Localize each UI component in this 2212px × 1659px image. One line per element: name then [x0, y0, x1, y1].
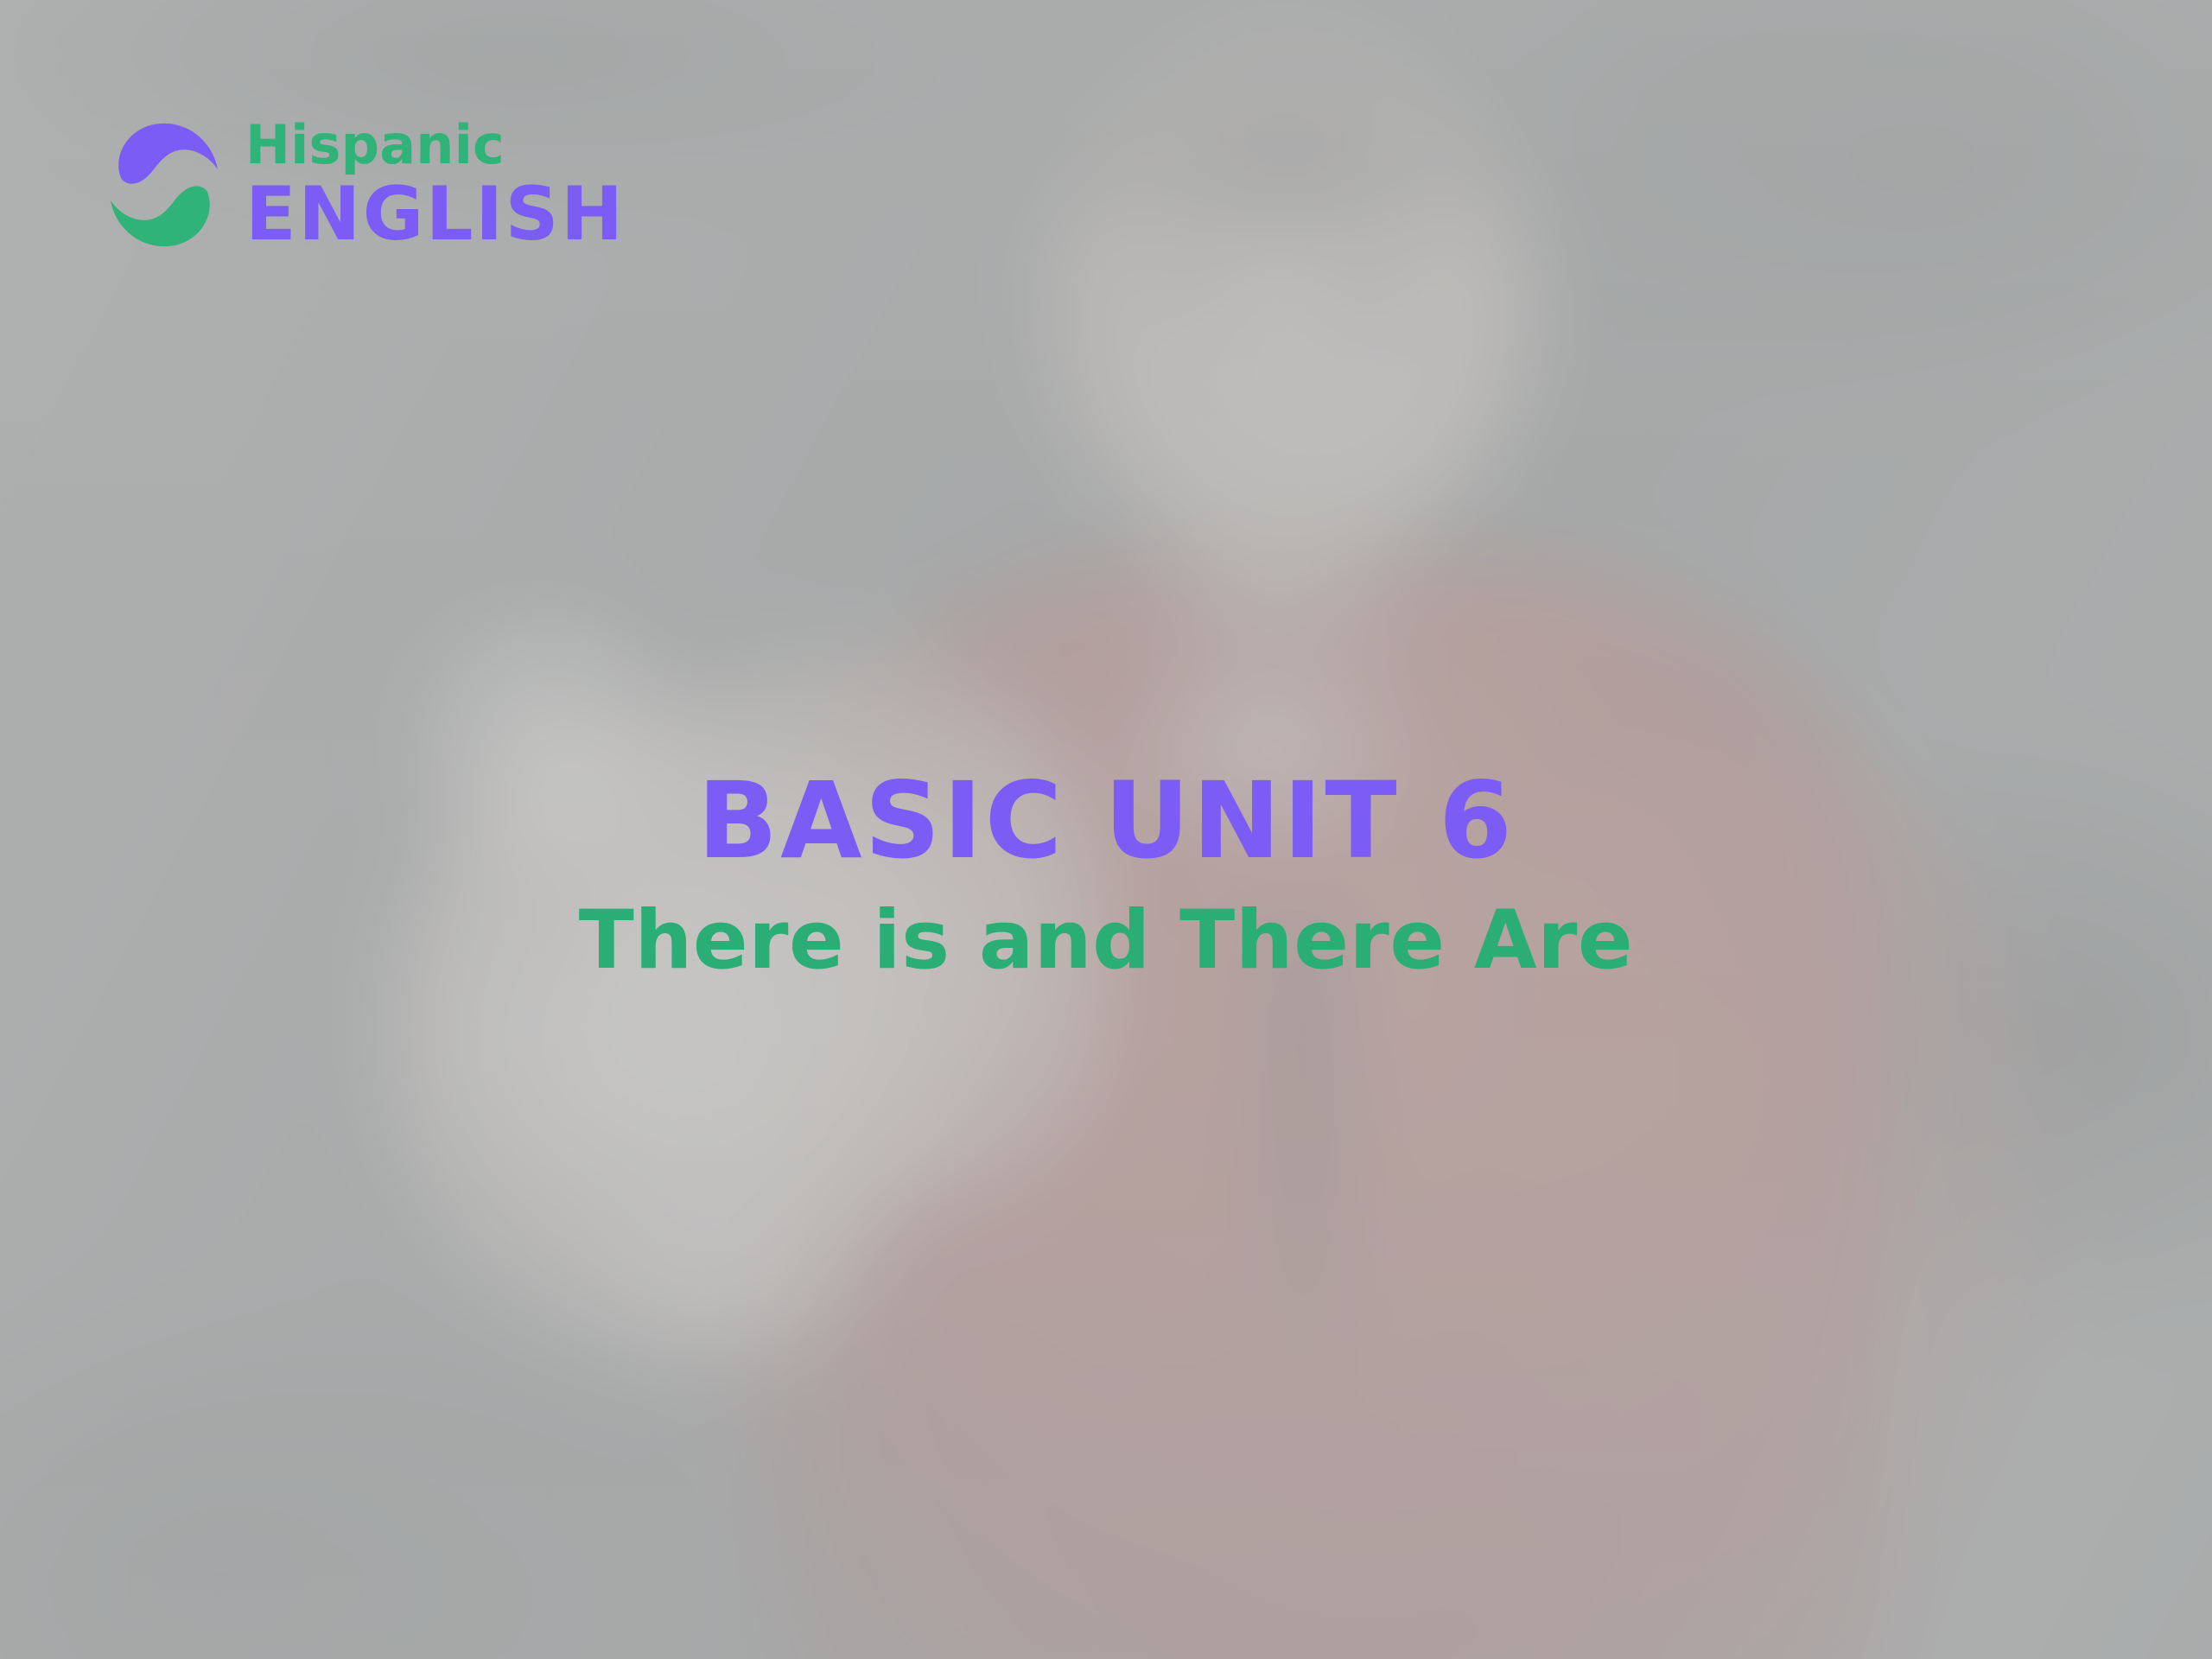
- slide-canvas: Hispanic ENGLISH BASIC UNIT 6 There is a…: [0, 0, 2212, 1659]
- brand-word-english: ENGLISH: [245, 177, 626, 251]
- brand-wordmark: Hispanic ENGLISH: [245, 118, 626, 251]
- page-title: BASIC UNIT 6: [104, 767, 2108, 874]
- person-eye-left: [1143, 269, 1251, 308]
- brand-word-hispanic: Hispanic: [245, 118, 505, 172]
- person-eye-right: [1307, 270, 1415, 315]
- background-blur-patch-upper-right: [1450, 0, 2212, 411]
- background-blur-patch-lower-left: [0, 1286, 664, 1659]
- title-block: BASIC UNIT 6 There is and There Are: [0, 767, 2212, 987]
- shirt-crease: [1266, 906, 1344, 1476]
- brand-logo: Hispanic ENGLISH: [105, 111, 626, 259]
- hispanic-english-s-mark-icon: [105, 111, 223, 259]
- person-thumb: [591, 1134, 886, 1400]
- page-subtitle: There is and There Are: [104, 895, 2108, 986]
